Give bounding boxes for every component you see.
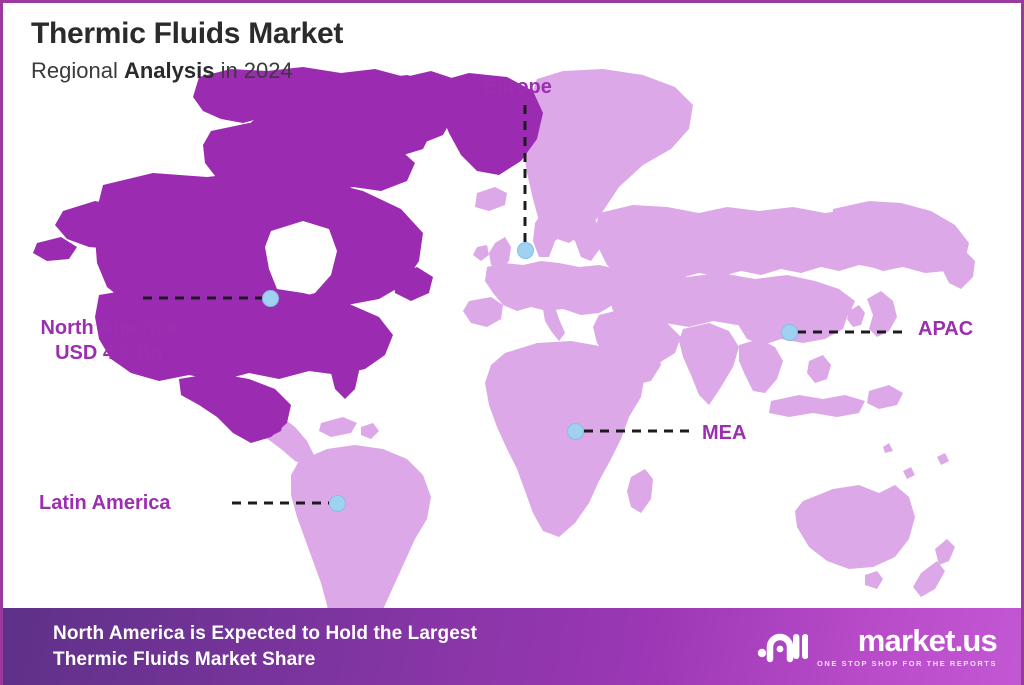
brand-logo-text: market.us ONE STOP SHOP FOR THE REPORTS	[817, 625, 997, 668]
subtitle-prefix: Regional	[31, 58, 124, 83]
region-name-latin-america: Latin America	[39, 492, 171, 514]
region-name-north-america: North America	[11, 316, 207, 341]
region-value-north-america: USD 4.2 Bn	[11, 341, 207, 366]
market-us-mark-icon	[756, 622, 808, 671]
marker-europe[interactable]	[517, 242, 534, 259]
brand-tagline: ONE STOP SHOP FOR THE REPORTS	[817, 659, 997, 668]
region-label-latin-america: Latin America	[39, 491, 171, 516]
marker-mea[interactable]	[567, 423, 584, 440]
region-label-mea: MEA	[702, 421, 746, 446]
map-highlight-region	[33, 67, 543, 443]
brand-logo[interactable]: market.us ONE STOP SHOP FOR THE REPORTS	[756, 622, 1005, 671]
page-title: Thermic Fluids Market	[31, 17, 343, 52]
region-label-north-america: North America USD 4.2 Bn	[11, 316, 207, 366]
page-subtitle: Regional Analysis in 2024	[31, 58, 343, 84]
marker-north-america[interactable]	[262, 290, 279, 307]
header: Thermic Fluids Market Regional Analysis …	[31, 17, 343, 84]
bottom-banner: North America is Expected to Hold the La…	[3, 608, 1024, 685]
region-name-europe: Europe	[483, 76, 552, 98]
infographic-card: Thermic Fluids Market Regional Analysis …	[0, 0, 1024, 685]
brand-name: market.us	[858, 625, 997, 656]
banner-headline-line2: Thermic Fluids Market Share	[53, 647, 477, 673]
marker-latin-america[interactable]	[329, 495, 346, 512]
banner-headline: North America is Expected to Hold the La…	[53, 621, 477, 672]
region-name-apac: APAC	[918, 318, 973, 340]
banner-headline-line1: North America is Expected to Hold the La…	[53, 621, 477, 647]
subtitle-suffix: in 2024	[214, 58, 292, 83]
subtitle-strong: Analysis	[124, 58, 215, 83]
region-label-europe: Europe	[483, 75, 552, 100]
region-name-mea: MEA	[702, 422, 746, 444]
region-label-apac: APAC	[918, 317, 973, 342]
marker-apac[interactable]	[781, 324, 798, 341]
